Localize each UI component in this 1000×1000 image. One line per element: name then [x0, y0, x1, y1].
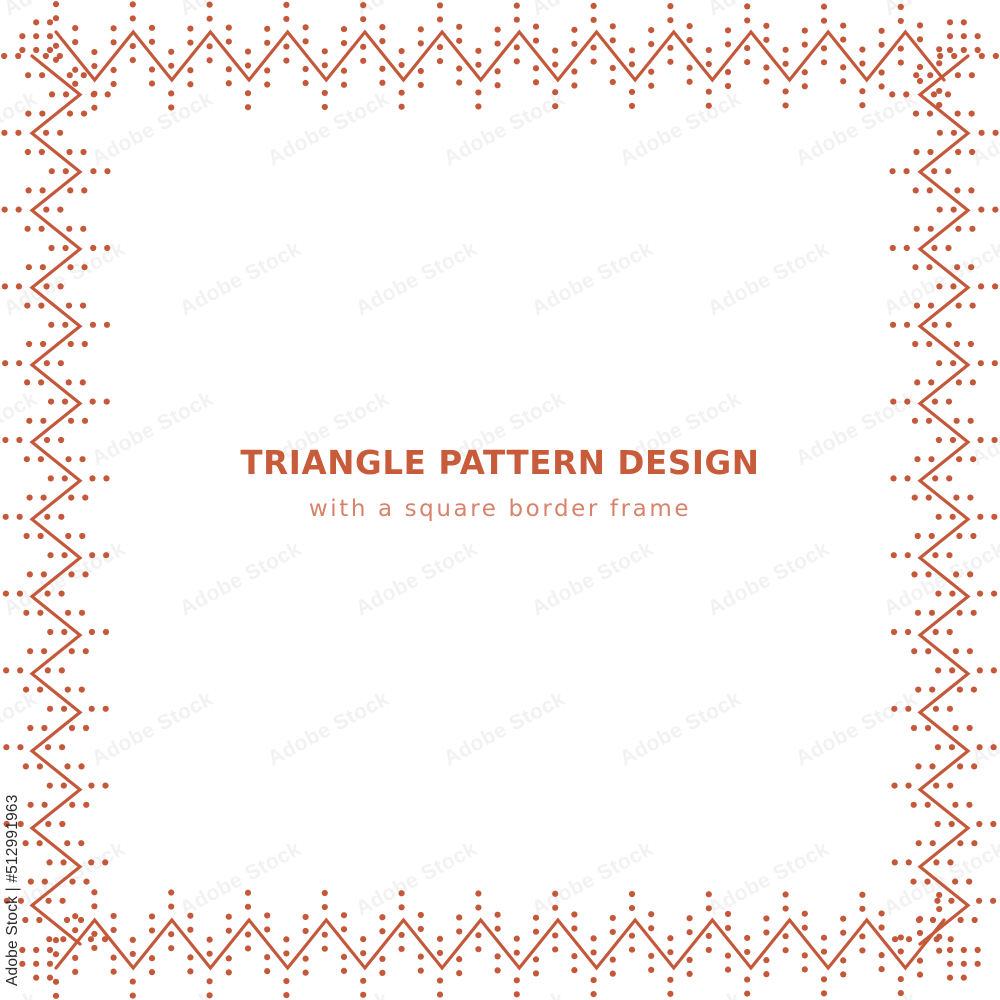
- pattern-dot: [955, 111, 961, 117]
- pattern-dot: [341, 926, 347, 932]
- pattern-dot: [456, 970, 462, 976]
- pattern-dot: [68, 571, 74, 577]
- pattern-dot: [783, 88, 789, 94]
- pattern-dot: [949, 744, 955, 750]
- artboard: Adobe StockAdobe StockAdobe StockAdobe S…: [0, 0, 1000, 1000]
- pattern-dot: [744, 976, 750, 982]
- pattern-dot: [57, 207, 63, 213]
- pattern-dot: [456, 65, 462, 71]
- pattern-dot: [977, 667, 983, 673]
- pattern-dot: [954, 264, 960, 270]
- pattern-dot: [706, 61, 712, 67]
- pattern-dot: [725, 911, 731, 917]
- pattern-dot: [168, 49, 174, 55]
- pattern-dot: [245, 48, 251, 54]
- pattern-dot: [976, 744, 982, 750]
- pattern-dot: [552, 932, 558, 938]
- pattern-dot: [928, 456, 934, 462]
- pattern-dot: [990, 821, 996, 827]
- pattern-dot: [514, 936, 520, 942]
- pattern-dot: [245, 945, 251, 951]
- pattern-dot: [48, 245, 54, 251]
- pattern-dot: [44, 591, 50, 597]
- pattern-dot: [42, 879, 48, 885]
- pattern-dot: [953, 571, 959, 577]
- pattern-dot: [629, 103, 635, 109]
- pattern-dot: [947, 975, 953, 981]
- pattern-dot: [928, 379, 934, 385]
- pattern-dot: [207, 2, 213, 8]
- pattern-dot: [972, 917, 978, 923]
- pattern-dot: [40, 418, 46, 424]
- pattern-dot: [264, 26, 270, 32]
- pattern-dot: [91, 63, 97, 69]
- pattern-dot: [610, 929, 616, 935]
- pattern-dot: [65, 533, 71, 539]
- pattern-dot: [89, 706, 95, 712]
- pattern-dot: [36, 917, 42, 923]
- pattern-dot: [821, 949, 827, 955]
- pattern-dot: [840, 37, 846, 43]
- pattern-dot: [82, 571, 88, 577]
- pattern-dot: [24, 456, 30, 462]
- pattern-dot: [38, 303, 44, 309]
- pattern-dot: [168, 931, 174, 937]
- pattern-dot: [898, 990, 904, 996]
- pattern-dot: [45, 821, 51, 827]
- pattern-dot: [65, 610, 71, 616]
- pattern-dot: [948, 936, 954, 942]
- pattern-dot: [168, 903, 174, 909]
- pattern-dot: [33, 33, 39, 39]
- pattern-dot: [591, 3, 597, 9]
- pattern-dot: [687, 915, 693, 921]
- pattern-dot: [961, 961, 967, 967]
- pattern-dot: [53, 1, 59, 7]
- pattern-dot: [341, 68, 347, 74]
- pattern-dot: [667, 977, 673, 983]
- pattern-dot: [26, 341, 32, 347]
- pattern-dot: [59, 821, 65, 827]
- pattern-dot: [72, 67, 78, 73]
- pattern-dot: [264, 954, 270, 960]
- pattern-dot: [2, 283, 8, 289]
- pattern-dot: [283, 950, 289, 956]
- pattern-dot: [15, 53, 21, 59]
- pattern-dot: [418, 926, 424, 932]
- pattern-dot: [936, 437, 942, 443]
- pattern-dot: [16, 437, 22, 443]
- pattern-dot: [62, 245, 68, 251]
- pattern-dot: [83, 802, 89, 808]
- pattern-dot: [64, 763, 70, 769]
- pattern-dot: [379, 38, 385, 44]
- pattern-dot: [898, 18, 904, 24]
- pattern-dot: [379, 914, 385, 920]
- pattern-dot: [890, 475, 896, 481]
- pattern-dot: [891, 552, 897, 558]
- pattern-dot: [437, 58, 443, 64]
- pattern-dot: [927, 72, 933, 78]
- pattern-dot: [207, 951, 213, 957]
- pattern-dot: [69, 802, 75, 808]
- pattern-dot: [977, 514, 983, 520]
- pattern-dot: [763, 23, 769, 29]
- pattern-dot: [60, 859, 66, 865]
- pattern-dot: [968, 341, 974, 347]
- pattern-dot: [379, 970, 385, 976]
- pattern-dot: [103, 629, 109, 635]
- pattern-dot: [207, 43, 213, 49]
- pattern-dot: [744, 3, 750, 9]
- pattern-dot: [552, 905, 558, 911]
- pattern-dot: [456, 79, 462, 85]
- pattern-dot: [66, 379, 72, 385]
- pattern-dot: [706, 103, 712, 109]
- pattern-dot: [821, 59, 827, 65]
- pattern-dot: [687, 957, 693, 963]
- pattern-dot: [42, 802, 48, 808]
- pattern-dot: [91, 105, 97, 111]
- pattern-dot: [706, 47, 712, 53]
- pattern-dot: [687, 65, 693, 71]
- pattern-dot: [687, 79, 693, 85]
- pattern-dot: [927, 149, 933, 155]
- pattern-dot: [961, 19, 967, 25]
- pattern-dot: [975, 947, 981, 953]
- pattern-dot: [892, 936, 898, 942]
- pattern-dot: [945, 245, 951, 251]
- pattern-dot: [783, 947, 789, 953]
- pattern-dot: [629, 61, 635, 67]
- pattern-dot: [226, 969, 232, 975]
- pattern-dot: [379, 928, 385, 934]
- pattern-dot: [763, 957, 769, 963]
- pattern-dot: [47, 33, 53, 39]
- pattern-dot: [16, 283, 22, 289]
- pattern-dot: [667, 991, 673, 997]
- pattern-dot: [936, 46, 942, 52]
- pattern-dot: [889, 91, 895, 97]
- pattern-dot: [360, 16, 366, 22]
- pattern-dot: [930, 917, 936, 923]
- pattern-dot: [905, 629, 911, 635]
- pattern-dot: [903, 168, 909, 174]
- pattern-dot: [22, 917, 28, 923]
- pattern-dot: [26, 495, 32, 501]
- pattern-dot: [957, 610, 963, 616]
- pattern-dot: [514, 991, 520, 997]
- pattern-dot: [533, 929, 539, 935]
- pattern-dot: [25, 226, 31, 232]
- pattern-dot: [904, 322, 910, 328]
- pattern-dot: [967, 495, 973, 501]
- pattern-dot: [83, 725, 89, 731]
- pattern-dot: [725, 69, 731, 75]
- pattern-dot: [977, 437, 983, 443]
- pattern-dot: [744, 991, 750, 997]
- pattern-dot: [629, 947, 635, 953]
- pattern-dot: [82, 495, 88, 501]
- pattern-dot: [283, 2, 289, 8]
- pattern-dot: [802, 966, 808, 972]
- pattern-dot: [552, 891, 558, 897]
- pattern-dot: [910, 879, 916, 885]
- pattern-dot: [341, 912, 347, 918]
- pattern-dot: [23, 610, 29, 616]
- pattern-dot: [571, 911, 577, 917]
- pattern-dot: [62, 475, 68, 481]
- pattern-dot: [687, 971, 693, 977]
- pattern-dot: [475, 904, 481, 910]
- pattern-dot: [399, 904, 405, 910]
- pattern-dot: [610, 65, 616, 71]
- pattern-dot: [19, 947, 25, 953]
- pattern-dot: [514, 44, 520, 50]
- pattern-dot: [303, 956, 309, 962]
- pattern-dot: [915, 687, 921, 693]
- pattern-dot: [879, 910, 885, 916]
- pattern-dot: [59, 744, 65, 750]
- pattern-dot: [991, 437, 997, 443]
- pattern-dot: [763, 64, 769, 70]
- zigzag-border-frame: [0, 0, 1000, 1000]
- pattern-dot: [947, 961, 953, 967]
- pattern-dot: [977, 591, 983, 597]
- pattern-dot: [957, 840, 963, 846]
- pattern-dot: [379, 80, 385, 86]
- pattern-dot: [744, 59, 750, 65]
- pattern-dot: [783, 61, 789, 67]
- pattern-dot: [283, 992, 289, 998]
- pattern-dot: [992, 360, 998, 366]
- pattern-dot: [911, 571, 917, 577]
- pattern-dot: [91, 903, 97, 909]
- pattern-dot: [79, 456, 85, 462]
- pattern-dot: [990, 898, 996, 904]
- pattern-dot: [898, 934, 904, 940]
- pattern-dot: [303, 80, 309, 86]
- pattern-dot: [937, 207, 943, 213]
- pattern-dot: [27, 802, 33, 808]
- pattern-dot: [187, 968, 193, 974]
- pattern-dot: [648, 953, 654, 959]
- pattern-dot: [571, 68, 577, 74]
- pattern-dot: [23, 840, 29, 846]
- pattern-dot: [571, 967, 577, 973]
- pattern-dot: [978, 130, 984, 136]
- pattern-dot: [360, 44, 366, 50]
- pattern-dot: [168, 889, 174, 895]
- pattern-dot: [978, 360, 984, 366]
- pattern-dot: [18, 898, 24, 904]
- pattern-dot: [946, 475, 952, 481]
- pattern-dot: [322, 904, 328, 910]
- pattern-dot: [26, 418, 32, 424]
- pattern-dot: [245, 890, 251, 896]
- pattern-dot: [39, 226, 45, 232]
- pattern-dot: [19, 47, 25, 53]
- pattern-dot: [65, 687, 71, 693]
- pattern-dot: [264, 67, 270, 73]
- pattern-dot: [80, 149, 86, 155]
- pattern-dot: [24, 533, 30, 539]
- pattern-dot: [932, 475, 938, 481]
- pattern-dot: [53, 951, 59, 957]
- pattern-dot: [898, 45, 904, 51]
- pattern-dot: [475, 946, 481, 952]
- pattern-dot: [859, 60, 865, 66]
- pattern-dot: [27, 571, 33, 577]
- pattern-dot: [3, 667, 9, 673]
- pattern-dot: [53, 43, 59, 49]
- pattern-dot: [927, 111, 933, 117]
- pattern-dot: [19, 33, 25, 39]
- pattern-dot: [47, 706, 53, 712]
- pattern-dot: [610, 915, 616, 921]
- pattern-dot: [802, 911, 808, 917]
- pattern-dot: [591, 949, 597, 955]
- pattern-dot: [475, 932, 481, 938]
- pattern-dot: [725, 83, 731, 89]
- pattern-dot: [667, 935, 673, 941]
- pattern-dot: [591, 977, 597, 983]
- pattern-dot: [78, 763, 84, 769]
- pattern-dot: [840, 78, 846, 84]
- pattern-dot: [533, 38, 539, 44]
- pattern-dot: [44, 437, 50, 443]
- pattern-dot: [47, 947, 53, 953]
- pattern-dot: [591, 44, 597, 50]
- pattern-dot: [47, 629, 53, 635]
- pattern-dot: [912, 418, 918, 424]
- pattern-dot: [245, 90, 251, 96]
- pattern-dot: [821, 935, 827, 941]
- pattern-dot: [571, 41, 577, 47]
- pattern-dot: [283, 16, 289, 22]
- pattern-dot: [949, 821, 955, 827]
- pattern-dot: [437, 936, 443, 942]
- pattern-dot: [47, 975, 53, 981]
- pattern-dot: [629, 933, 635, 939]
- pattern-dot: [90, 168, 96, 174]
- pattern-dot: [41, 648, 47, 654]
- pattern-dot: [226, 955, 232, 961]
- pattern-dot: [88, 936, 94, 942]
- pattern-dot: [40, 187, 46, 193]
- pattern-dot: [47, 783, 53, 789]
- pattern-dot: [571, 953, 577, 959]
- pattern-dot: [341, 82, 347, 88]
- pattern-dot: [207, 937, 213, 943]
- pattern-dot: [72, 913, 78, 919]
- pattern-dot: [859, 88, 865, 94]
- pattern-dot: [456, 24, 462, 30]
- pattern-dot: [90, 399, 96, 405]
- pattern-dot: [104, 168, 110, 174]
- pattern-dot: [264, 40, 270, 46]
- pattern-dot: [17, 667, 23, 673]
- pattern-dot: [892, 859, 898, 865]
- pattern-dot: [39, 111, 45, 117]
- pattern-dot: [840, 64, 846, 70]
- pattern-dot: [67, 72, 73, 78]
- pattern-dot: [25, 111, 31, 117]
- pattern-dot: [951, 130, 957, 136]
- pattern-dot: [303, 38, 309, 44]
- pattern-dot: [82, 341, 88, 347]
- pattern-dot: [946, 552, 952, 558]
- pattern-dot: [917, 958, 923, 964]
- pattern-dot: [25, 72, 31, 78]
- pattern-dot: [929, 687, 935, 693]
- pattern-dot: [859, 933, 865, 939]
- pattern-dot: [226, 39, 232, 45]
- pattern-dot: [954, 418, 960, 424]
- pattern-dot: [360, 950, 366, 956]
- pattern-dot: [60, 936, 66, 942]
- pattern-dot: [933, 706, 939, 712]
- pattern-dot: [970, 456, 976, 462]
- pattern-dot: [971, 763, 977, 769]
- pattern-dot: [3, 744, 9, 750]
- pattern-dot: [763, 929, 769, 935]
- pattern-dot: [936, 948, 942, 954]
- pattern-dot: [763, 971, 769, 977]
- pattern-dot: [932, 552, 938, 558]
- pattern-dot: [168, 63, 174, 69]
- pattern-dot: [322, 932, 328, 938]
- pattern-dot: [495, 82, 501, 88]
- pattern-dot: [187, 40, 193, 46]
- pattern-dot: [264, 81, 270, 87]
- pattern-dot: [68, 341, 74, 347]
- pattern-dot: [37, 840, 43, 846]
- pattern-dot: [533, 956, 539, 962]
- pattern-dot: [17, 744, 23, 750]
- pattern-dot: [905, 706, 911, 712]
- pattern-dot: [950, 437, 956, 443]
- zigzag-line-group: [32, 32, 968, 968]
- pattern-dot: [437, 16, 443, 22]
- pattern-dot: [991, 667, 997, 673]
- pattern-dot: [629, 47, 635, 53]
- pattern-dot: [958, 917, 964, 923]
- pattern-dot: [935, 591, 941, 597]
- pattern-dot: [57, 130, 63, 136]
- pattern-dot: [81, 264, 87, 270]
- pattern-dot: [763, 37, 769, 43]
- pattern-dot: [81, 187, 87, 193]
- pattern-dot: [25, 149, 31, 155]
- pattern-dot: [62, 399, 68, 405]
- pattern-dot: [821, 990, 827, 996]
- pattern-dot: [931, 91, 937, 97]
- pattern-dot: [130, 937, 136, 943]
- pattern-dot: [898, 948, 904, 954]
- pattern-dot: [264, 926, 270, 932]
- pattern-dot: [130, 992, 136, 998]
- pattern-dot: [61, 783, 67, 789]
- pattern-dot: [58, 360, 64, 366]
- pattern-dot: [360, 936, 366, 942]
- pattern-dot: [926, 264, 932, 270]
- pattern-dot: [27, 648, 33, 654]
- pattern-dot: [947, 629, 953, 635]
- pattern-dot: [591, 991, 597, 997]
- pattern-dot: [48, 322, 54, 328]
- pattern-dot: [418, 954, 424, 960]
